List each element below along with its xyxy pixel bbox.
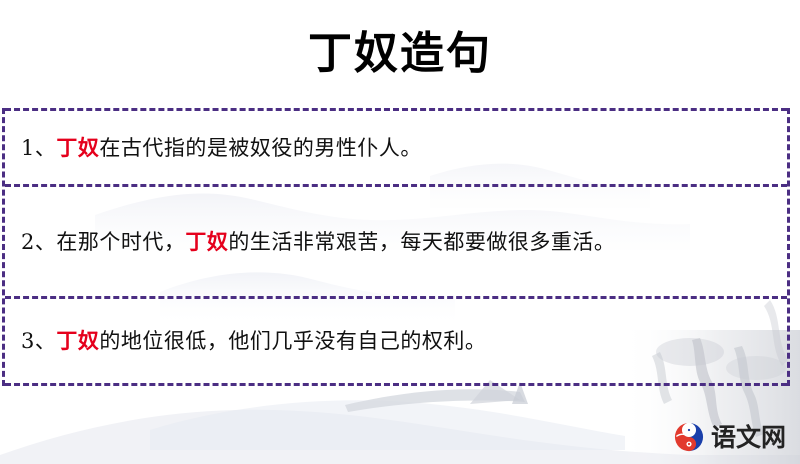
sentence-row: 2、在那个时代，丁奴的生活非常艰苦，每天都要做很多重活。 <box>5 184 787 296</box>
keyword-highlight: 丁奴 <box>185 229 228 254</box>
sentence-after: 在古代指的是被奴役的男性仆人。 <box>99 136 422 160</box>
sentence-row: 3、丁奴的地位很低，他们几乎没有自己的权利。 <box>5 296 787 386</box>
site-logo: 语文网 <box>674 422 786 452</box>
keyword-highlight: 丁奴 <box>56 135 99 160</box>
sentence-index: 3、 <box>21 329 56 353</box>
sentence-row: 1、丁奴在古代指的是被奴役的男性仆人。 <box>5 108 787 184</box>
sentence-index: 2、 <box>21 230 56 254</box>
sentence-table: 1、丁奴在古代指的是被奴役的男性仆人。 2、在那个时代，丁奴的生活非常艰苦，每天… <box>2 108 790 386</box>
sentence-index: 1、 <box>21 136 56 160</box>
page-title: 丁奴造句 <box>308 32 492 76</box>
sentence-before: 在那个时代， <box>56 230 185 254</box>
sentence-text: 1、丁奴在古代指的是被奴役的男性仆人。 <box>21 129 422 167</box>
keyword-highlight: 丁奴 <box>56 328 99 353</box>
yuwen-circle-emblem-icon <box>674 422 704 452</box>
site-logo-text: 语文网 <box>711 425 786 450</box>
sentence-after: 的生活非常艰苦，每天都要做很多重活。 <box>228 230 615 254</box>
sentence-after: 的地位很低，他们几乎没有自己的权利。 <box>99 329 486 353</box>
sentence-text: 3、丁奴的地位很低，他们几乎没有自己的权利。 <box>21 322 486 360</box>
title-area: 丁奴造句 <box>0 0 800 108</box>
sentence-text: 2、在那个时代，丁奴的生活非常艰苦，每天都要做很多重活。 <box>21 223 615 261</box>
document-page: 丁奴造句 1、丁奴在古代指的是被奴役的男性仆人。 2、在那个时代，丁奴的生活非常… <box>0 0 800 464</box>
